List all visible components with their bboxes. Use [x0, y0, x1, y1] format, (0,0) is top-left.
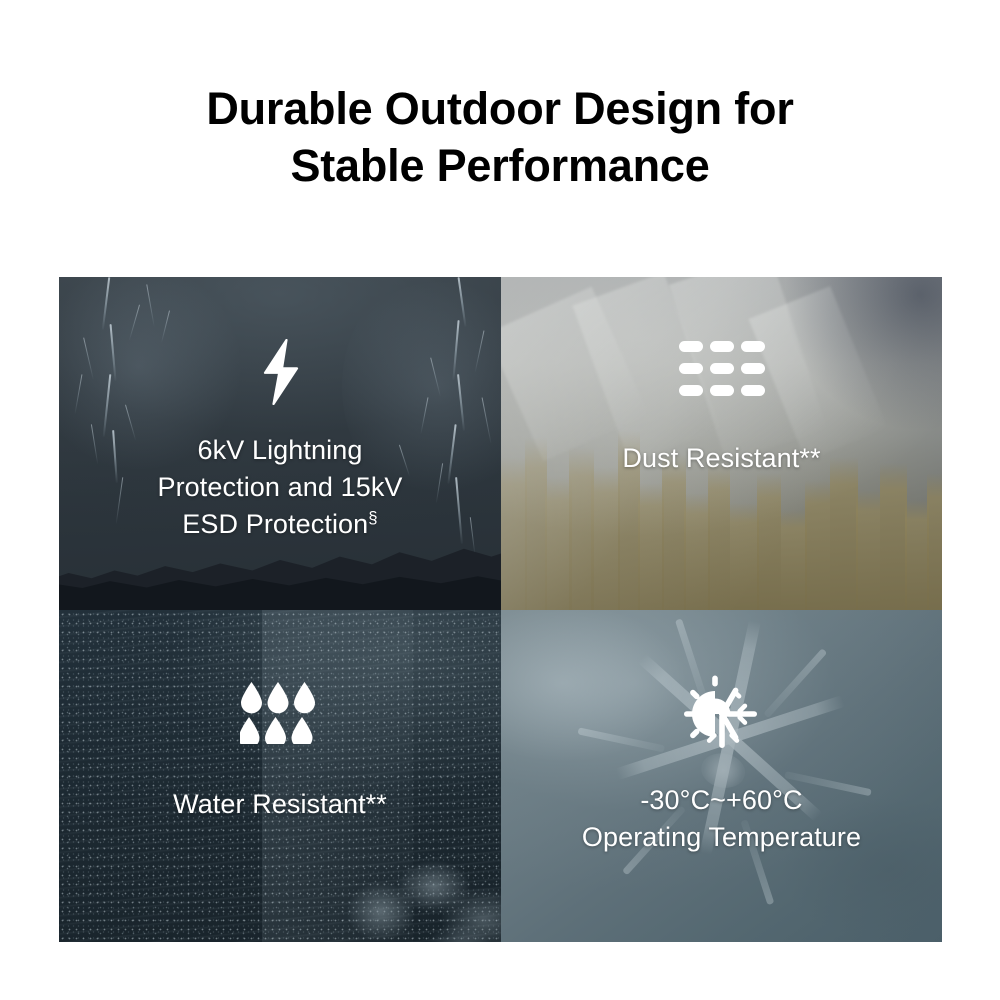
- feature-card-content: 6kV Lightning Protection and 15kV ESD Pr…: [59, 277, 501, 543]
- feature-card-dust-resistant[interactable]: Dust Resistant**: [501, 277, 942, 610]
- feature-card-lightning-protection[interactable]: 6kV Lightning Protection and 15kV ESD Pr…: [59, 277, 501, 610]
- feature-card-content: Water Resistant**: [59, 610, 501, 823]
- sun-snowflake-icon: [682, 674, 762, 754]
- page-title-line-2: Stable Performance: [0, 137, 1000, 194]
- feature-label-water: Water Resistant**: [173, 786, 387, 823]
- dust-mesh-icon: [679, 341, 765, 397]
- lightning-bolt-icon: [256, 339, 304, 405]
- feature-label-dust: Dust Resistant**: [622, 440, 820, 477]
- footnote-marker-section: §: [368, 508, 377, 527]
- feature-label-lightning: 6kV Lightning Protection and 15kV ESD Pr…: [157, 432, 402, 543]
- feature-card-water-resistant[interactable]: Water Resistant**: [59, 610, 501, 942]
- feature-card-content: Dust Resistant**: [501, 277, 942, 477]
- wet-rocks: [342, 836, 501, 942]
- feature-card-content: -30°C~+60°C Operating Temperature: [501, 610, 942, 856]
- feature-grid: 6kV Lightning Protection and 15kV ESD Pr…: [59, 277, 942, 942]
- feature-card-operating-temperature[interactable]: -30°C~+60°C Operating Temperature: [501, 610, 942, 942]
- feature-highlight-page: Durable Outdoor Design for Stable Perfor…: [0, 0, 1000, 1000]
- page-title-line-1: Durable Outdoor Design for: [0, 80, 1000, 137]
- page-title: Durable Outdoor Design for Stable Perfor…: [0, 80, 1000, 194]
- feature-label-temperature: -30°C~+60°C Operating Temperature: [582, 782, 861, 856]
- water-droplets-icon: [240, 682, 320, 744]
